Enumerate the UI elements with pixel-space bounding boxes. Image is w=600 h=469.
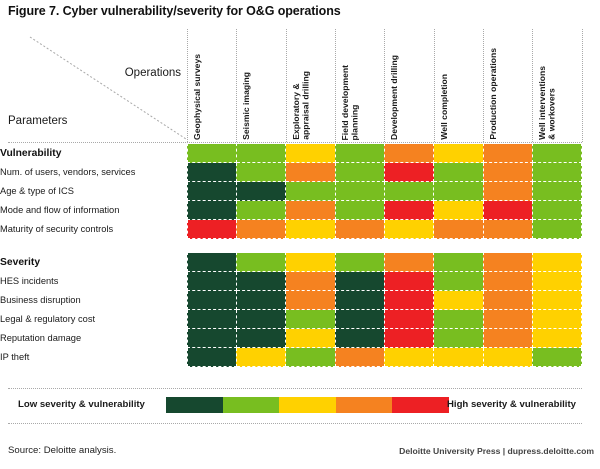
heatmap-cell	[483, 348, 532, 367]
legend-swatch-4	[392, 397, 449, 413]
heatmap-cell	[286, 182, 335, 201]
heatmap-cell	[187, 163, 236, 182]
heatmap-row: Age & type of ICS	[0, 182, 582, 201]
heatmap-cell	[434, 253, 483, 272]
row-label: IP theft	[0, 348, 187, 367]
heatmap-cell	[236, 220, 285, 239]
heatmap-cell	[187, 220, 236, 239]
heatmap-cell	[434, 329, 483, 348]
heatmap-cell	[532, 253, 581, 272]
column-label-0: Geophysical surveys	[193, 54, 203, 140]
heatmap-cell	[434, 201, 483, 220]
heatmap-cell	[384, 163, 433, 182]
heatmap-cell	[335, 163, 384, 182]
heatmap-cell	[286, 272, 335, 291]
row-label: Legal & regulatory cost	[0, 310, 187, 329]
heatmap-cell	[236, 291, 285, 310]
heatmap-cell	[187, 272, 236, 291]
axis-title-parameters: Parameters	[8, 115, 67, 127]
corner-axis-header: Operations Parameters	[0, 29, 187, 142]
heatmap-cell	[532, 291, 581, 310]
heatmap-cell	[434, 144, 483, 163]
heatmap-cell	[236, 144, 285, 163]
heatmap-cell	[384, 348, 433, 367]
row-label: Num. of users, vendors, services	[0, 163, 187, 182]
heatmap-summary-row: Vulnerability	[0, 144, 582, 163]
column-tick-7	[532, 29, 533, 142]
heatmap-cell	[384, 201, 433, 220]
group-label: Severity	[0, 253, 187, 272]
heatmap-cell	[286, 329, 335, 348]
legend-low-label: Low severity & vulnerability	[18, 399, 145, 410]
row-label: Maturity of security controls	[0, 220, 187, 239]
heatmap-cell	[434, 163, 483, 182]
heatmap-cell	[532, 272, 581, 291]
heatmap-cell	[384, 253, 433, 272]
heatmap-cell	[187, 291, 236, 310]
heatmap-cell	[187, 253, 236, 272]
heatmap-cell	[286, 220, 335, 239]
row-label: Mode and flow of information	[0, 201, 187, 220]
heatmap-row: Business disruption	[0, 291, 582, 310]
legend-swatch-1	[223, 397, 280, 413]
heatmap-cell	[384, 329, 433, 348]
heatmap-cell	[532, 201, 581, 220]
row-label: Reputation damage	[0, 329, 187, 348]
heatmap-cell	[532, 348, 581, 367]
heatmap-cell	[187, 348, 236, 367]
heatmap-cell	[286, 144, 335, 163]
legend-bottom-rule	[8, 423, 582, 424]
heatmap-cell	[532, 182, 581, 201]
heatmap-cell	[434, 310, 483, 329]
heatmap-cell	[335, 348, 384, 367]
figure-root: Figure 7. Cyber vulnerability/severity f…	[0, 0, 600, 469]
heatmap-row: Num. of users, vendors, services	[0, 163, 582, 182]
publisher-credit: Deloitte University Press | dupress.delo…	[399, 446, 594, 456]
source-note: Source: Deloitte analysis.	[8, 445, 116, 456]
heatmap-cell	[236, 253, 285, 272]
axis-title-operations: Operations	[125, 67, 181, 79]
heatmap-cell	[335, 182, 384, 201]
heatmap-cell	[236, 348, 285, 367]
heatmap-cell	[187, 144, 236, 163]
heatmap-cell	[532, 163, 581, 182]
heatmap-row: Mode and flow of information	[0, 201, 582, 220]
heatmap-cell	[286, 163, 335, 182]
row-label: Age & type of ICS	[0, 182, 187, 201]
heatmap-cell	[286, 348, 335, 367]
legend-swatch-0	[166, 397, 223, 413]
heatmap-cell	[335, 144, 384, 163]
heatmap-cell	[434, 348, 483, 367]
heatmap-cell	[434, 220, 483, 239]
heatmap-cell	[434, 272, 483, 291]
column-label-7: Well interventions & workovers	[538, 66, 557, 140]
group-label: Vulnerability	[0, 144, 187, 163]
column-label-4: Development drilling	[390, 55, 400, 140]
legend-top-rule	[8, 388, 582, 389]
vulnerability-block: VulnerabilityNum. of users, vendors, ser…	[0, 143, 582, 239]
heatmap-cell	[434, 182, 483, 201]
heatmap-cell	[532, 329, 581, 348]
column-label-1: Seismic imaging	[242, 72, 252, 140]
legend-high-label: High severity & vulnerability	[447, 399, 576, 410]
column-tick-4	[384, 29, 385, 142]
legend-swatch-2	[279, 397, 336, 413]
column-tick-5	[434, 29, 435, 142]
legend: Low severity & vulnerability High severi…	[8, 388, 582, 424]
column-tick-end	[582, 29, 583, 142]
column-label-5: Well completion	[440, 74, 450, 140]
heatmap-cell	[483, 201, 532, 220]
heatmap-cell	[483, 220, 532, 239]
legend-swatch-3	[336, 397, 393, 413]
heatmap-cell	[532, 310, 581, 329]
heatmap-table-severity: SeverityHES incidentsBusiness disruption…	[0, 252, 582, 367]
heatmap-cell	[187, 329, 236, 348]
heatmap-row: IP theft	[0, 348, 582, 367]
heatmap-table-vulnerability: VulnerabilityNum. of users, vendors, ser…	[0, 143, 582, 239]
legend-color-bar	[166, 397, 449, 413]
heatmap-cell	[236, 201, 285, 220]
heatmap-cell	[384, 310, 433, 329]
heatmap-cell	[286, 291, 335, 310]
heatmap-cell	[335, 201, 384, 220]
row-label: HES incidents	[0, 272, 187, 291]
figure-title: Figure 7. Cyber vulnerability/severity f…	[8, 4, 341, 18]
heatmap-cell	[483, 182, 532, 201]
heatmap-cell	[286, 310, 335, 329]
heatmap-cell	[384, 144, 433, 163]
heatmap-cell	[434, 291, 483, 310]
severity-block: SeverityHES incidentsBusiness disruption…	[0, 252, 582, 367]
row-label: Business disruption	[0, 291, 187, 310]
heatmap-cell	[335, 253, 384, 272]
heatmap-cell	[187, 201, 236, 220]
column-tick-3	[335, 29, 336, 142]
heatmap-cell	[483, 329, 532, 348]
heatmap-cell	[335, 272, 384, 291]
column-label-2: Exploratory & appraisal drilling	[292, 71, 311, 140]
heatmap-row: Reputation damage	[0, 329, 582, 348]
heatmap-cell	[384, 291, 433, 310]
heatmap-cell	[187, 182, 236, 201]
heatmap-cell	[384, 272, 433, 291]
heatmap-cell	[483, 163, 532, 182]
heatmap-cell	[286, 201, 335, 220]
heatmap-cell	[384, 182, 433, 201]
heatmap-cell	[187, 310, 236, 329]
column-header-row: Geophysical surveysSeismic imagingExplor…	[187, 29, 582, 142]
heatmap-cell	[286, 253, 335, 272]
heatmap-cell	[483, 291, 532, 310]
heatmap-cell	[483, 253, 532, 272]
heatmap-cell	[236, 329, 285, 348]
heatmap-cell	[483, 272, 532, 291]
heatmap-cell	[532, 220, 581, 239]
heatmap-row: HES incidents	[0, 272, 582, 291]
heatmap-summary-row: Severity	[0, 253, 582, 272]
heatmap-cell	[335, 220, 384, 239]
column-tick-6	[483, 29, 484, 142]
heatmap-cell	[335, 329, 384, 348]
column-label-6: Production operations	[489, 48, 499, 140]
heatmap-cell	[483, 144, 532, 163]
column-tick-2	[286, 29, 287, 142]
heatmap-cell	[532, 144, 581, 163]
column-tick-1	[236, 29, 237, 142]
heatmap-row: Maturity of security controls	[0, 220, 582, 239]
column-label-3: Field development planning	[341, 65, 360, 140]
heatmap-cell	[236, 182, 285, 201]
heatmap-cell	[335, 310, 384, 329]
heatmap-row: Legal & regulatory cost	[0, 310, 582, 329]
heatmap-cell	[236, 310, 285, 329]
heatmap-cell	[236, 163, 285, 182]
heatmap-cell	[483, 310, 532, 329]
heatmap-cell	[335, 291, 384, 310]
heatmap-cell	[384, 220, 433, 239]
heatmap-cell	[236, 272, 285, 291]
column-tick-0	[187, 29, 188, 142]
